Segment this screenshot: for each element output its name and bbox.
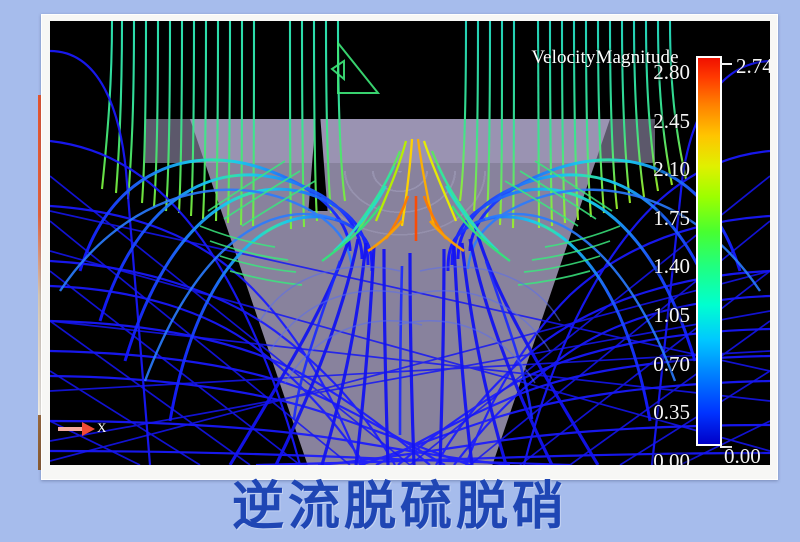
colorbar-max-label: 2.74	[736, 54, 770, 79]
colorbar-tick-labels: 2.80 2.45 2.10 1.75 1.40 1.05 0.70 0.35 …	[590, 63, 690, 465]
colorbar-tick: 1.40	[590, 257, 690, 306]
cfd-plot-canvas: VelocityMagnitude 2.80 2.45 2.10 1.75 1.…	[50, 21, 770, 465]
colorbar-max-tick-mark	[720, 63, 732, 65]
x-axis-label: X	[97, 420, 106, 436]
colorbar-gradient	[696, 56, 722, 446]
colorbar-min-label: 0.00	[724, 444, 761, 465]
colorbar-tick: 1.75	[590, 209, 690, 258]
colorbar-tick: 1.05	[590, 306, 690, 355]
figure-caption: 逆流脱硫脱硝	[0, 478, 800, 536]
figure-root: VelocityMagnitude 2.80 2.45 2.10 1.75 1.…	[0, 0, 800, 542]
colorbar-tick: 0.35	[590, 403, 690, 452]
axis-orientation-indicator: X	[58, 416, 118, 444]
colorbar-tick: 2.10	[590, 160, 690, 209]
colorbar-tick: 2.45	[590, 112, 690, 161]
colorbar-tick: 2.80	[590, 63, 690, 112]
colorbar-tick: 0.00	[590, 452, 690, 465]
colorbar-tick: 0.70	[590, 355, 690, 404]
x-axis-arrow-head-icon	[82, 422, 95, 436]
